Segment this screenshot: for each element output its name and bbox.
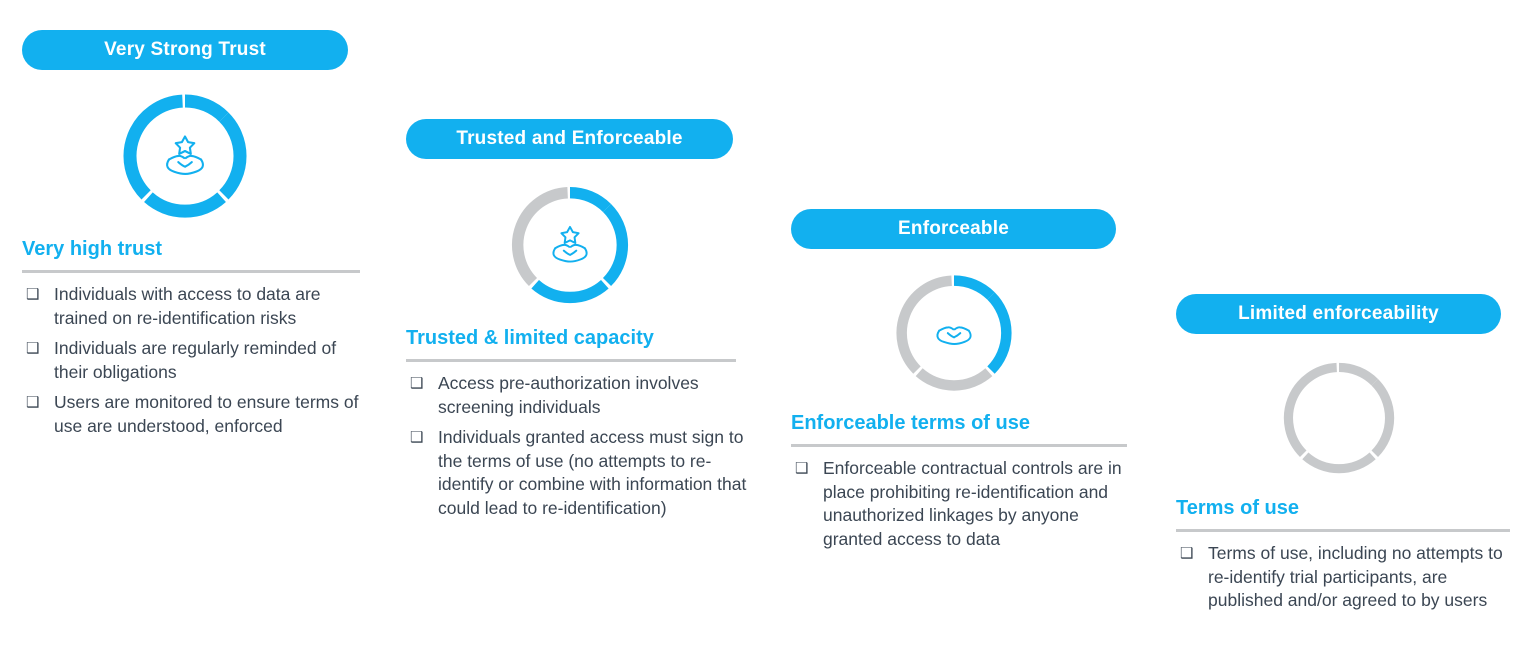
bullet-list-limited-enforceability: ❑ Terms of use, including no attempts to…	[1176, 542, 1516, 613]
ring-limited-enforceability	[1176, 350, 1501, 485]
bullet-list-trusted-and-enforceable: ❑ Access pre-authorization involves scre…	[406, 372, 748, 520]
pill-enforceable[interactable]: Enforceable	[791, 209, 1116, 249]
checkbox-bullet-icon: ❑	[26, 392, 39, 414]
list-item: ❑ Individuals with access to data are tr…	[22, 283, 370, 330]
list-item: ❑ Users are monitored to ensure terms of…	[22, 391, 370, 438]
heading-divider	[22, 270, 360, 273]
list-item-text: Individuals granted access must sign to …	[438, 427, 746, 518]
heading-terms-of-use: Terms of use	[1176, 497, 1516, 520]
list-item-text: Terms of use, including no attempts to r…	[1208, 543, 1503, 610]
ring-enforceable	[791, 265, 1116, 400]
list-item-text: Enforceable contractual controls are in …	[823, 458, 1122, 549]
checkbox-bullet-icon: ❑	[410, 427, 423, 449]
pill-trusted-and-enforceable[interactable]: Trusted and Enforceable	[406, 119, 733, 159]
list-item: ❑ Terms of use, including no attempts to…	[1176, 542, 1516, 613]
trust-continuum-diagram: Very Strong Trust	[0, 0, 1534, 662]
donut-chart-0	[1282, 361, 1396, 475]
heading-divider	[791, 444, 1127, 447]
list-item: ❑ Individuals granted access must sign t…	[406, 426, 748, 520]
handshake-star-icon	[545, 220, 595, 270]
list-item-text: Individuals are regularly reminded of th…	[54, 338, 336, 382]
column-very-strong-trust: Very Strong Trust	[22, 30, 362, 445]
bullet-list-enforceable: ❑ Enforceable contractual controls are i…	[791, 457, 1136, 551]
heading-very-high-trust: Very high trust	[22, 238, 362, 261]
heading-divider	[1176, 529, 1510, 532]
ring-very-strong-trust	[22, 86, 348, 226]
checkbox-bullet-icon: ❑	[795, 458, 808, 480]
handshake-star-icon	[158, 129, 212, 183]
heading-divider	[406, 359, 736, 362]
bullet-list-very-strong-trust: ❑ Individuals with access to data are tr…	[22, 283, 370, 438]
column-limited-enforceability: Limited enforceability Terms of use ❑ Te…	[1176, 294, 1516, 620]
checkbox-bullet-icon: ❑	[1180, 543, 1193, 565]
handshake-icon	[929, 308, 979, 358]
column-trusted-and-enforceable: Trusted and Enforceable	[406, 119, 746, 527]
list-item: ❑ Access pre-authorization involves scre…	[406, 372, 748, 419]
heading-trusted-limited-capacity: Trusted & limited capacity	[406, 327, 746, 350]
ring-trusted-and-enforceable	[406, 175, 733, 315]
list-item: ❑ Individuals are regularly reminded of …	[22, 337, 370, 384]
pill-limited-enforceability[interactable]: Limited enforceability	[1176, 294, 1501, 334]
checkbox-bullet-icon: ❑	[410, 373, 423, 395]
column-enforceable: Enforceable Enforceab	[791, 209, 1131, 558]
list-item-text: Individuals with access to data are trai…	[54, 284, 321, 328]
heading-enforceable-terms-of-use: Enforceable terms of use	[791, 412, 1131, 435]
list-item-text: Users are monitored to ensure terms of u…	[54, 392, 358, 436]
pill-very-strong-trust[interactable]: Very Strong Trust	[22, 30, 348, 70]
checkbox-bullet-icon: ❑	[26, 284, 39, 306]
list-item: ❑ Enforceable contractual controls are i…	[791, 457, 1136, 551]
checkbox-bullet-icon: ❑	[26, 338, 39, 360]
list-item-text: Access pre-authorization involves screen…	[438, 373, 699, 417]
